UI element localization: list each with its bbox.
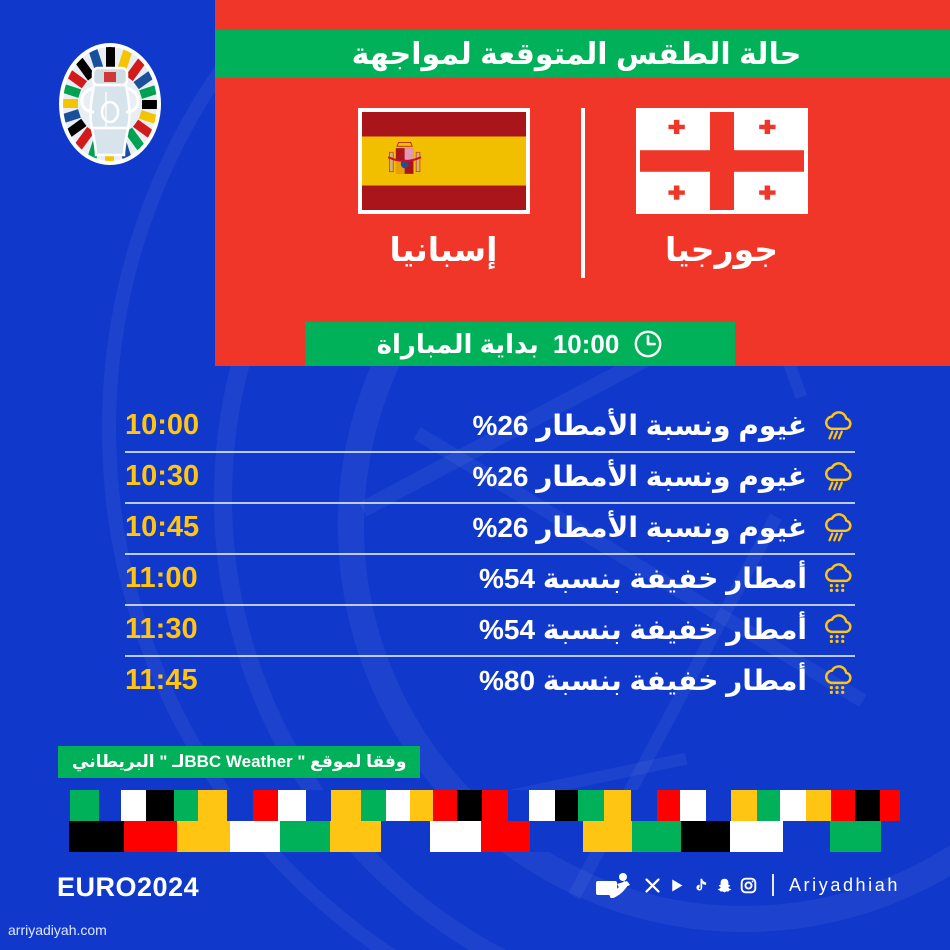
mosaic-cell — [174, 790, 199, 821]
youtube-icon[interactable] — [668, 877, 685, 894]
mosaic-cell — [855, 790, 880, 821]
mosaic-cell — [230, 821, 281, 852]
forecast-row: غيوم ونسبة الأمطار 26% 10:30 — [125, 451, 855, 502]
mosaic-cell — [146, 790, 173, 821]
mosaic-row-bottom — [52, 821, 900, 852]
rain-cloud-icon — [821, 511, 855, 545]
mosaic-cell — [680, 790, 705, 821]
mosaic-cell — [430, 821, 481, 852]
mosaic-cell — [681, 821, 730, 852]
arriyadiyah-logo-icon — [595, 872, 635, 898]
mosaic-cell — [881, 821, 900, 852]
mosaic-cell — [831, 790, 855, 821]
mosaic-cell — [482, 790, 507, 821]
team-home-name: جورجيا — [665, 230, 778, 269]
mosaic-cell — [386, 790, 410, 821]
kickoff-banner: 10:00 بداية المباراة — [305, 322, 735, 366]
forecast-time: 11:45 — [125, 664, 198, 697]
drizzle-cloud-icon — [821, 613, 855, 647]
euro-year: 2024 — [137, 872, 199, 903]
euro-word: EUR — [57, 872, 116, 903]
drizzle-cloud-icon — [821, 664, 855, 698]
spain-flag — [358, 108, 530, 214]
forecast-list: غيوم ونسبة الأمطار 26% 10:00 غيوم ونسبة … — [125, 400, 855, 706]
mosaic-cell — [631, 790, 656, 821]
mosaic-cell — [331, 790, 360, 821]
clock-icon — [633, 329, 663, 359]
forecast-time: 11:00 — [125, 562, 198, 595]
mosaic-cell — [124, 821, 177, 852]
drizzle-cloud-icon — [821, 562, 855, 596]
mosaic-decoration — [52, 790, 900, 852]
mosaic-cell — [880, 790, 900, 821]
team-home: جورجيا — [597, 108, 847, 269]
kickoff-time: 10:00 — [553, 329, 620, 360]
source-badge: وفقا لموقع " BBC Weatherلـ " البريطاني — [58, 746, 420, 778]
mosaic-cell — [52, 821, 69, 852]
footer-brand-bar: Ariyadhiah — [595, 872, 900, 898]
mosaic-cell — [121, 790, 146, 821]
mosaic-cell — [227, 790, 252, 821]
mosaic-cell — [530, 821, 583, 852]
title-band: حالة الطقس المتوقعة لمواجهة — [215, 30, 950, 78]
x-twitter-icon[interactable] — [644, 877, 661, 894]
footer-divider — [772, 874, 774, 896]
rain-cloud-icon — [821, 409, 855, 443]
rain-cloud-icon — [821, 460, 855, 494]
mosaic-cell — [99, 790, 121, 821]
mosaic-cell — [632, 821, 681, 852]
forecast-time: 11:30 — [125, 613, 198, 646]
forecast-time: 10:00 — [125, 409, 199, 442]
mosaic-cell — [198, 790, 227, 821]
snapchat-icon[interactable] — [716, 877, 733, 894]
forecast-row: غيوم ونسبة الأمطار 26% 10:00 — [125, 400, 855, 451]
mosaic-cell — [730, 821, 783, 852]
site-url[interactable]: arriyadiyah.com — [8, 922, 107, 938]
mosaic-cell — [706, 790, 731, 821]
mosaic-cell — [278, 790, 305, 821]
page-title: حالة الطقس المتوقعة لمواجهة — [352, 37, 814, 72]
mosaic-cell — [783, 821, 830, 852]
mosaic-cell — [381, 821, 430, 852]
euro-2024-trophy-logo — [58, 42, 162, 166]
team-away-name: إسبانيا — [390, 230, 498, 269]
match-teams: جورجيا — [215, 108, 950, 298]
mosaic-cell — [830, 821, 881, 852]
mosaic-cell — [433, 790, 457, 821]
brand-name: Ariyadhiah — [789, 875, 900, 896]
mosaic-cell — [69, 821, 124, 852]
forecast-time: 10:45 — [125, 511, 199, 544]
mosaic-cell — [70, 790, 99, 821]
mosaic-cell — [457, 790, 482, 821]
forecast-time: 10:30 — [125, 460, 199, 493]
instagram-icon[interactable] — [740, 877, 757, 894]
mosaic-cell — [253, 790, 278, 821]
mosaic-cell — [578, 790, 603, 821]
forecast-condition: أمطار خفيفة بنسبة 54% — [479, 562, 807, 595]
mosaic-cell — [177, 821, 230, 852]
mosaic-cell — [780, 790, 805, 821]
forecast-condition: غيوم ونسبة الأمطار 26% — [472, 511, 807, 544]
weather-infographic-poster: حالة الطقس المتوقعة لمواجهة — [0, 0, 950, 950]
source-text: وفقا لموقع " BBC Weatherلـ " البريطاني — [72, 752, 406, 772]
mosaic-cell — [757, 790, 781, 821]
forecast-condition: غيوم ونسبة الأمطار 26% — [472, 460, 807, 493]
mosaic-cell — [555, 790, 579, 821]
mosaic-cell — [361, 790, 386, 821]
forecast-condition: غيوم ونسبة الأمطار 26% — [472, 409, 807, 442]
mosaic-cell — [806, 790, 831, 821]
forecast-row: أمطار خفيفة بنسبة 80% 11:45 — [125, 655, 855, 706]
mosaic-cell — [52, 790, 70, 821]
mosaic-cell — [306, 790, 331, 821]
mosaic-cell — [330, 821, 381, 852]
mosaic-cell — [529, 790, 554, 821]
euro-2024-wordmark: EUR O 2024 — [57, 872, 199, 903]
mosaic-cell — [657, 790, 681, 821]
forecast-row: غيوم ونسبة الأمطار 26% 10:45 — [125, 502, 855, 553]
forecast-condition: أمطار خفيفة بنسبة 80% — [479, 664, 807, 697]
tiktok-icon[interactable] — [692, 877, 709, 894]
mosaic-cell — [508, 790, 530, 821]
forecast-row: أمطار خفيفة بنسبة 54% 11:30 — [125, 604, 855, 655]
social-icons — [644, 877, 757, 894]
mosaic-cell — [280, 821, 329, 852]
forecast-row: أمطار خفيفة بنسبة 54% 11:00 — [125, 553, 855, 604]
mosaic-cell — [731, 790, 756, 821]
mosaic-row-top — [52, 790, 900, 821]
georgia-flag — [636, 108, 808, 214]
kickoff-label: بداية المباراة — [377, 329, 539, 360]
team-divider — [581, 108, 585, 278]
mosaic-cell — [583, 821, 632, 852]
team-away: إسبانيا — [319, 108, 569, 269]
mosaic-cell — [604, 790, 631, 821]
mosaic-cell — [410, 790, 434, 821]
euro-o-letter: O — [116, 872, 138, 903]
forecast-condition: أمطار خفيفة بنسبة 54% — [479, 613, 807, 646]
mosaic-cell — [481, 821, 530, 852]
